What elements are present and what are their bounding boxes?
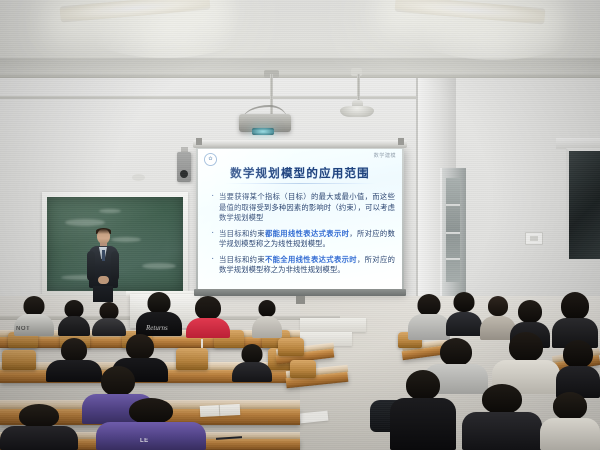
student-head	[19, 404, 59, 428]
student	[0, 404, 78, 450]
bullet-3-lead: 当目标和约束	[219, 255, 265, 264]
student-torso	[252, 316, 282, 338]
student	[252, 300, 282, 338]
slide-bullet-3: 当目标和约束不能全用线性表达式表示时，所对应的数学规划模型称之为非线性规划模型。	[211, 255, 395, 276]
screen-bracket-left	[196, 138, 202, 145]
pillar-edge	[416, 78, 418, 310]
student-torso	[540, 418, 600, 450]
teacher-hands	[98, 276, 109, 284]
student-torso	[390, 398, 456, 450]
lecture-hall-photo: ✿ 数学建模 数学规划模型的应用范围 当要获得某个指标（目标）的最大或最小值，而…	[0, 0, 600, 450]
student-head	[440, 338, 472, 366]
student-torso	[462, 412, 542, 450]
hoodie-graphic-text: LE	[140, 438, 149, 444]
student-head	[454, 292, 475, 312]
student-head	[518, 300, 542, 323]
student-head	[561, 292, 589, 320]
wall-speaker	[177, 152, 191, 182]
teacher-head	[97, 229, 110, 244]
ceiling-fan	[340, 106, 374, 117]
student-head	[563, 340, 593, 368]
screen-roller-casing	[193, 140, 407, 148]
hoodie-graphic-text: NOT	[16, 326, 30, 332]
seat-back[interactable]	[176, 348, 208, 370]
doorway-mullion	[446, 204, 460, 206]
student-head	[129, 398, 173, 424]
seat-back[interactable]	[278, 338, 304, 356]
university-logo-icon: ✿	[204, 153, 217, 166]
teacher-tie	[102, 250, 105, 261]
teacher-arm-right	[111, 251, 119, 281]
student-torso	[232, 362, 272, 382]
student-torso	[14, 314, 54, 336]
doorway-mullion	[446, 232, 460, 234]
student	[462, 384, 542, 450]
student	[232, 344, 272, 382]
jacket-script-text: Returns	[146, 324, 168, 332]
student	[390, 370, 456, 450]
student-torso	[58, 316, 90, 336]
student-head	[553, 392, 587, 420]
platform-step-upper	[300, 318, 366, 332]
slide-title-divider	[224, 183, 376, 184]
student-head	[406, 370, 440, 400]
screen-bracket-right	[398, 138, 404, 145]
student-torso	[408, 314, 450, 340]
projector-lens-icon	[252, 128, 274, 135]
student-head	[101, 366, 135, 396]
slide-title: 数学规划模型的应用范围	[205, 165, 395, 181]
dark-window	[566, 148, 600, 259]
student-head	[259, 300, 276, 317]
teacher	[88, 229, 118, 299]
bullet-1-text: 当要获得某个指标（目标）的最大或最小值，而这些最值的取得受到多种因素的影响时（约…	[219, 192, 395, 222]
student	[408, 294, 450, 340]
doorway-glass	[446, 178, 460, 282]
screen-bottom-bar	[194, 289, 406, 296]
student: LE	[96, 398, 206, 450]
bullet-3-highlight: 不能全用线性表达式表示时	[265, 255, 357, 264]
student: Returns	[136, 292, 182, 336]
student-torso	[96, 422, 206, 450]
bullet-2-highlight: 都能用线性表达式表示时	[265, 229, 349, 238]
slide-bullet-1: 当要获得某个指标（目标）的最大或最小值，而这些最值的取得受到多种因素的影响时（约…	[211, 192, 395, 224]
student-head	[24, 296, 45, 316]
student-torso	[0, 426, 78, 450]
seat-back[interactable]	[2, 350, 36, 370]
student	[92, 302, 126, 336]
student-torso	[446, 312, 482, 336]
power-outlet[interactable]	[525, 232, 543, 245]
student-head	[61, 338, 87, 362]
teacher-legs	[93, 286, 113, 302]
student	[446, 292, 482, 336]
student-head	[509, 332, 543, 362]
smoke-detector-icon	[132, 174, 145, 181]
slide-watermark: 数学建模	[374, 152, 396, 159]
student-head	[148, 292, 171, 314]
student	[556, 340, 600, 398]
teacher-arm-left	[87, 251, 95, 281]
student-torso	[186, 318, 230, 338]
student-head	[242, 344, 263, 364]
student-head	[488, 296, 508, 316]
student-head	[126, 334, 154, 360]
slide-bullet-2: 当目标和约束都能用线性表达式表示时，所对应的数学规划模型称之为线性规划模型。	[211, 229, 395, 250]
student	[540, 392, 600, 450]
student-head	[482, 384, 522, 414]
bullet-2-lead: 当目标和约束	[219, 229, 265, 238]
student	[186, 296, 230, 338]
student-head	[418, 294, 441, 316]
student: NOT	[14, 296, 54, 336]
screen-pull-tab[interactable]	[296, 296, 305, 304]
doorway-mullion	[446, 258, 460, 260]
seat-back[interactable]	[290, 360, 316, 378]
projection-screen: ✿ 数学建模 数学规划模型的应用范围 当要获得某个指标（目标）的最大或最小值，而…	[196, 147, 404, 293]
slide-bullet-list: 当要获得某个指标（目标）的最大或最小值，而这些最值的取得受到多种因素的影响时（约…	[211, 192, 395, 276]
presentation-slide: ✿ 数学建模 数学规划模型的应用范围 当要获得某个指标（目标）的最大或最小值，而…	[198, 149, 402, 291]
student-head	[195, 296, 221, 320]
student	[58, 300, 90, 336]
